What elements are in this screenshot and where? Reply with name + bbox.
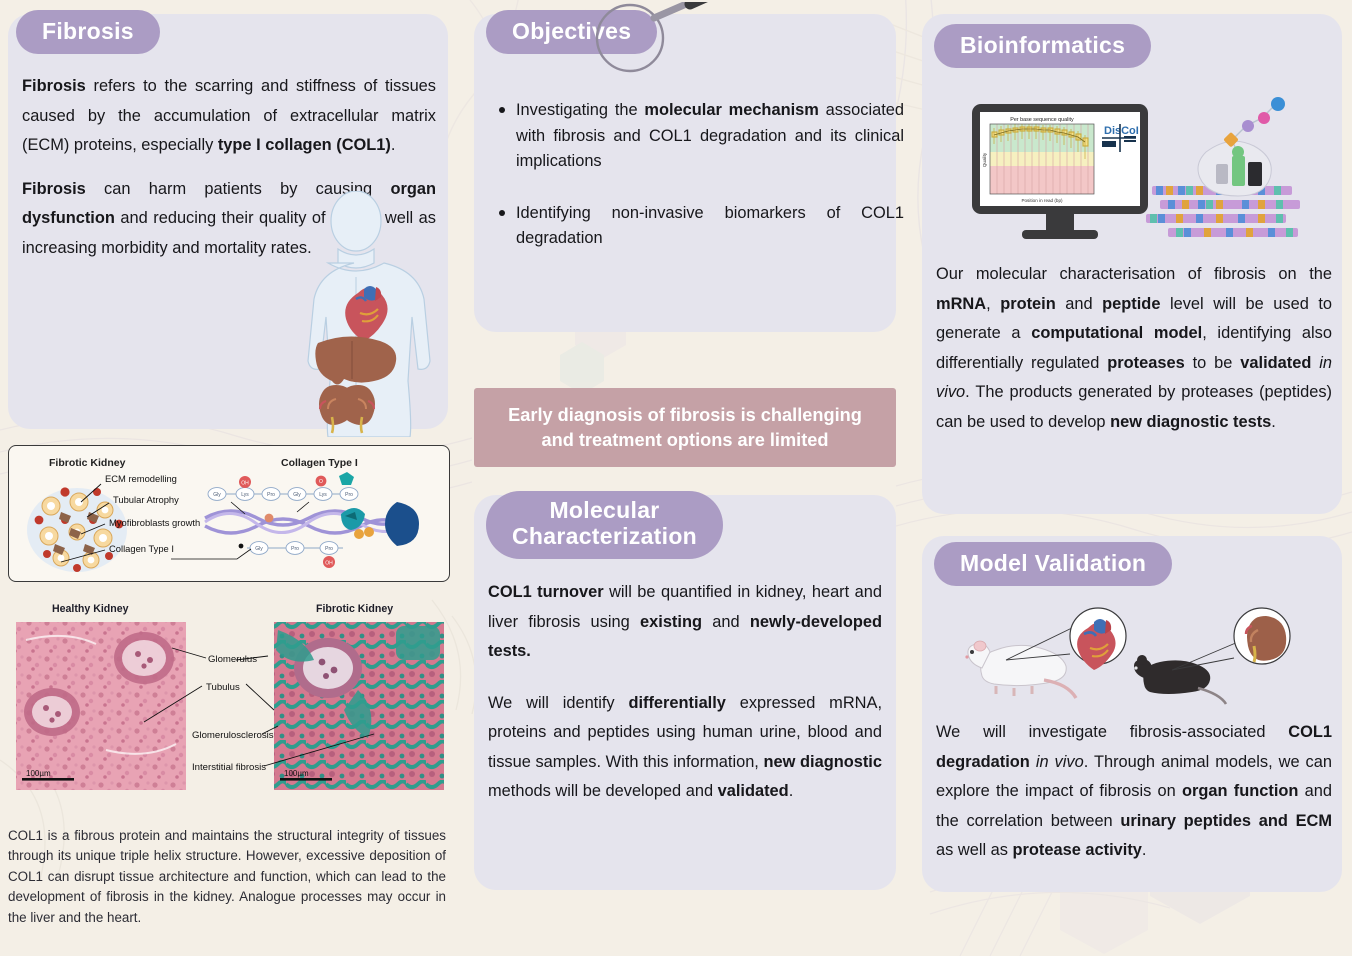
badge-model-validation: Model Validation [934, 542, 1172, 586]
histology-label-1: Tubulus [206, 682, 240, 693]
peptide-residue: Lys [241, 492, 249, 498]
plot-ylabel: Quality [982, 152, 987, 167]
card-model-validation: Model Validation [922, 536, 1342, 892]
diagram-fibrotic-kidney-collagen: Fibrotic Kidney Collagen Type I [8, 445, 450, 582]
modification-label: OH [241, 480, 249, 486]
peptide-residue: Pro [291, 546, 299, 552]
histology-label-2: Glomerulosclerosis [192, 730, 274, 741]
column-bioinformatics: Bioinformatics Per base sequence quality [908, 0, 1352, 956]
peptide-residue: Gly [293, 492, 301, 498]
diagram-annotation-0: ECM remodelling [105, 473, 177, 484]
peptide-residue: Gly [255, 546, 263, 552]
badge-line-1: Molecular [549, 497, 659, 523]
diagram-annotation-2: Myofibroblasts growth [109, 517, 200, 528]
molecular-paragraph-2: We will identify differentially expresse… [488, 689, 882, 807]
peptide-residue: Pro [267, 492, 275, 498]
scalebar-label-healthy: 100µm [26, 769, 51, 778]
column-fibrosis: Fibrosis Fibrosis refers to the scarring… [0, 0, 456, 956]
model-validation-body: We will investigate fibrosis-associated … [936, 718, 1332, 866]
plot-xlabel: Position in read (bp) [1021, 198, 1063, 203]
peptide-residue: Gly [213, 492, 221, 498]
col1-caption: COL1 is a fibrous protein and maintains … [8, 826, 446, 928]
modification-label: O [319, 479, 323, 485]
scalebar-label-fibrotic: 100µm [284, 769, 309, 778]
column-objectives: Objectives Investigating the molecular m… [456, 0, 908, 956]
per-base-quality-plot: Position in read (bp) Quality [982, 124, 1094, 203]
diagram-annotation-1: Tubular Atrophy [113, 494, 179, 505]
card-fibrosis: Fibrosis Fibrosis refers to the scarring… [8, 14, 448, 429]
histology-label-0: Glomerulus [208, 654, 257, 665]
card-molecular-characterization: Molecular Characterization COL1 turnover… [474, 495, 896, 890]
bioinformatics-body: Our molecular characterisation of fibros… [936, 260, 1332, 437]
molecular-paragraph-1: COL1 turnover will be quantified in kidn… [488, 578, 882, 667]
model-validation-paragraph: We will investigate fibrosis-associated … [936, 718, 1332, 866]
card-bioinformatics: Bioinformatics Per base sequence quality [922, 14, 1342, 514]
badge-bioinformatics: Bioinformatics [934, 24, 1151, 68]
white-rat [965, 641, 1076, 698]
card-objectives: Objectives Investigating the molecular m… [474, 14, 896, 332]
plot-title: Per base sequence quality [1010, 117, 1074, 123]
magnifying-glass-icon [572, 2, 762, 74]
histology-label-3: Interstitial fibrosis [192, 762, 266, 773]
animal-models-illustration [958, 598, 1310, 716]
peptide-residue: Lys [319, 492, 327, 498]
fibrosis-paragraph-1: Fibrosis refers to the scarring and stif… [22, 72, 436, 161]
healthy-kidney-image: 100µm [16, 622, 186, 790]
histology-left-title: Healthy Kidney [52, 603, 129, 615]
kidney-callout [1172, 608, 1290, 670]
human-body-organs-illustration [268, 191, 444, 437]
badge-line-2: Characterization [512, 523, 697, 549]
histology-comparison: Healthy Kidney Fibrotic Kidney [6, 600, 452, 818]
key-message-banner: Early diagnosis of fibrosis is challengi… [474, 388, 896, 467]
sequencing-monitor-dna-illustration: Per base sequence quality [938, 94, 1328, 244]
badge-fibrosis: Fibrosis [16, 10, 160, 54]
histology-right-title: Fibrotic Kidney [316, 603, 393, 615]
logo-text: DisCoI [1104, 125, 1139, 137]
objective-item: Identifying non-invasive biomarkers of C… [516, 201, 904, 252]
diagram-right-title: Collagen Type I [281, 457, 358, 469]
objective-item: Investigating the molecular mechanism as… [516, 98, 904, 175]
diagram-left-title: Fibrotic Kidney [49, 457, 126, 469]
bioinformatics-paragraph: Our molecular characterisation of fibros… [936, 260, 1332, 437]
peptide-residue: Pro [345, 492, 353, 498]
molecular-body: COL1 turnover will be quantified in kidn… [488, 578, 882, 829]
fibrotic-kidney-image: 100µm [274, 622, 444, 790]
diagram-annotation-3: Collagen Type I [109, 543, 174, 554]
badge-molecular-characterization: Molecular Characterization [486, 491, 723, 559]
objectives-list: Investigating the molecular mechanism as… [494, 98, 904, 278]
peptide-residue: Pro [325, 546, 333, 552]
modification-label: OH [325, 560, 333, 566]
